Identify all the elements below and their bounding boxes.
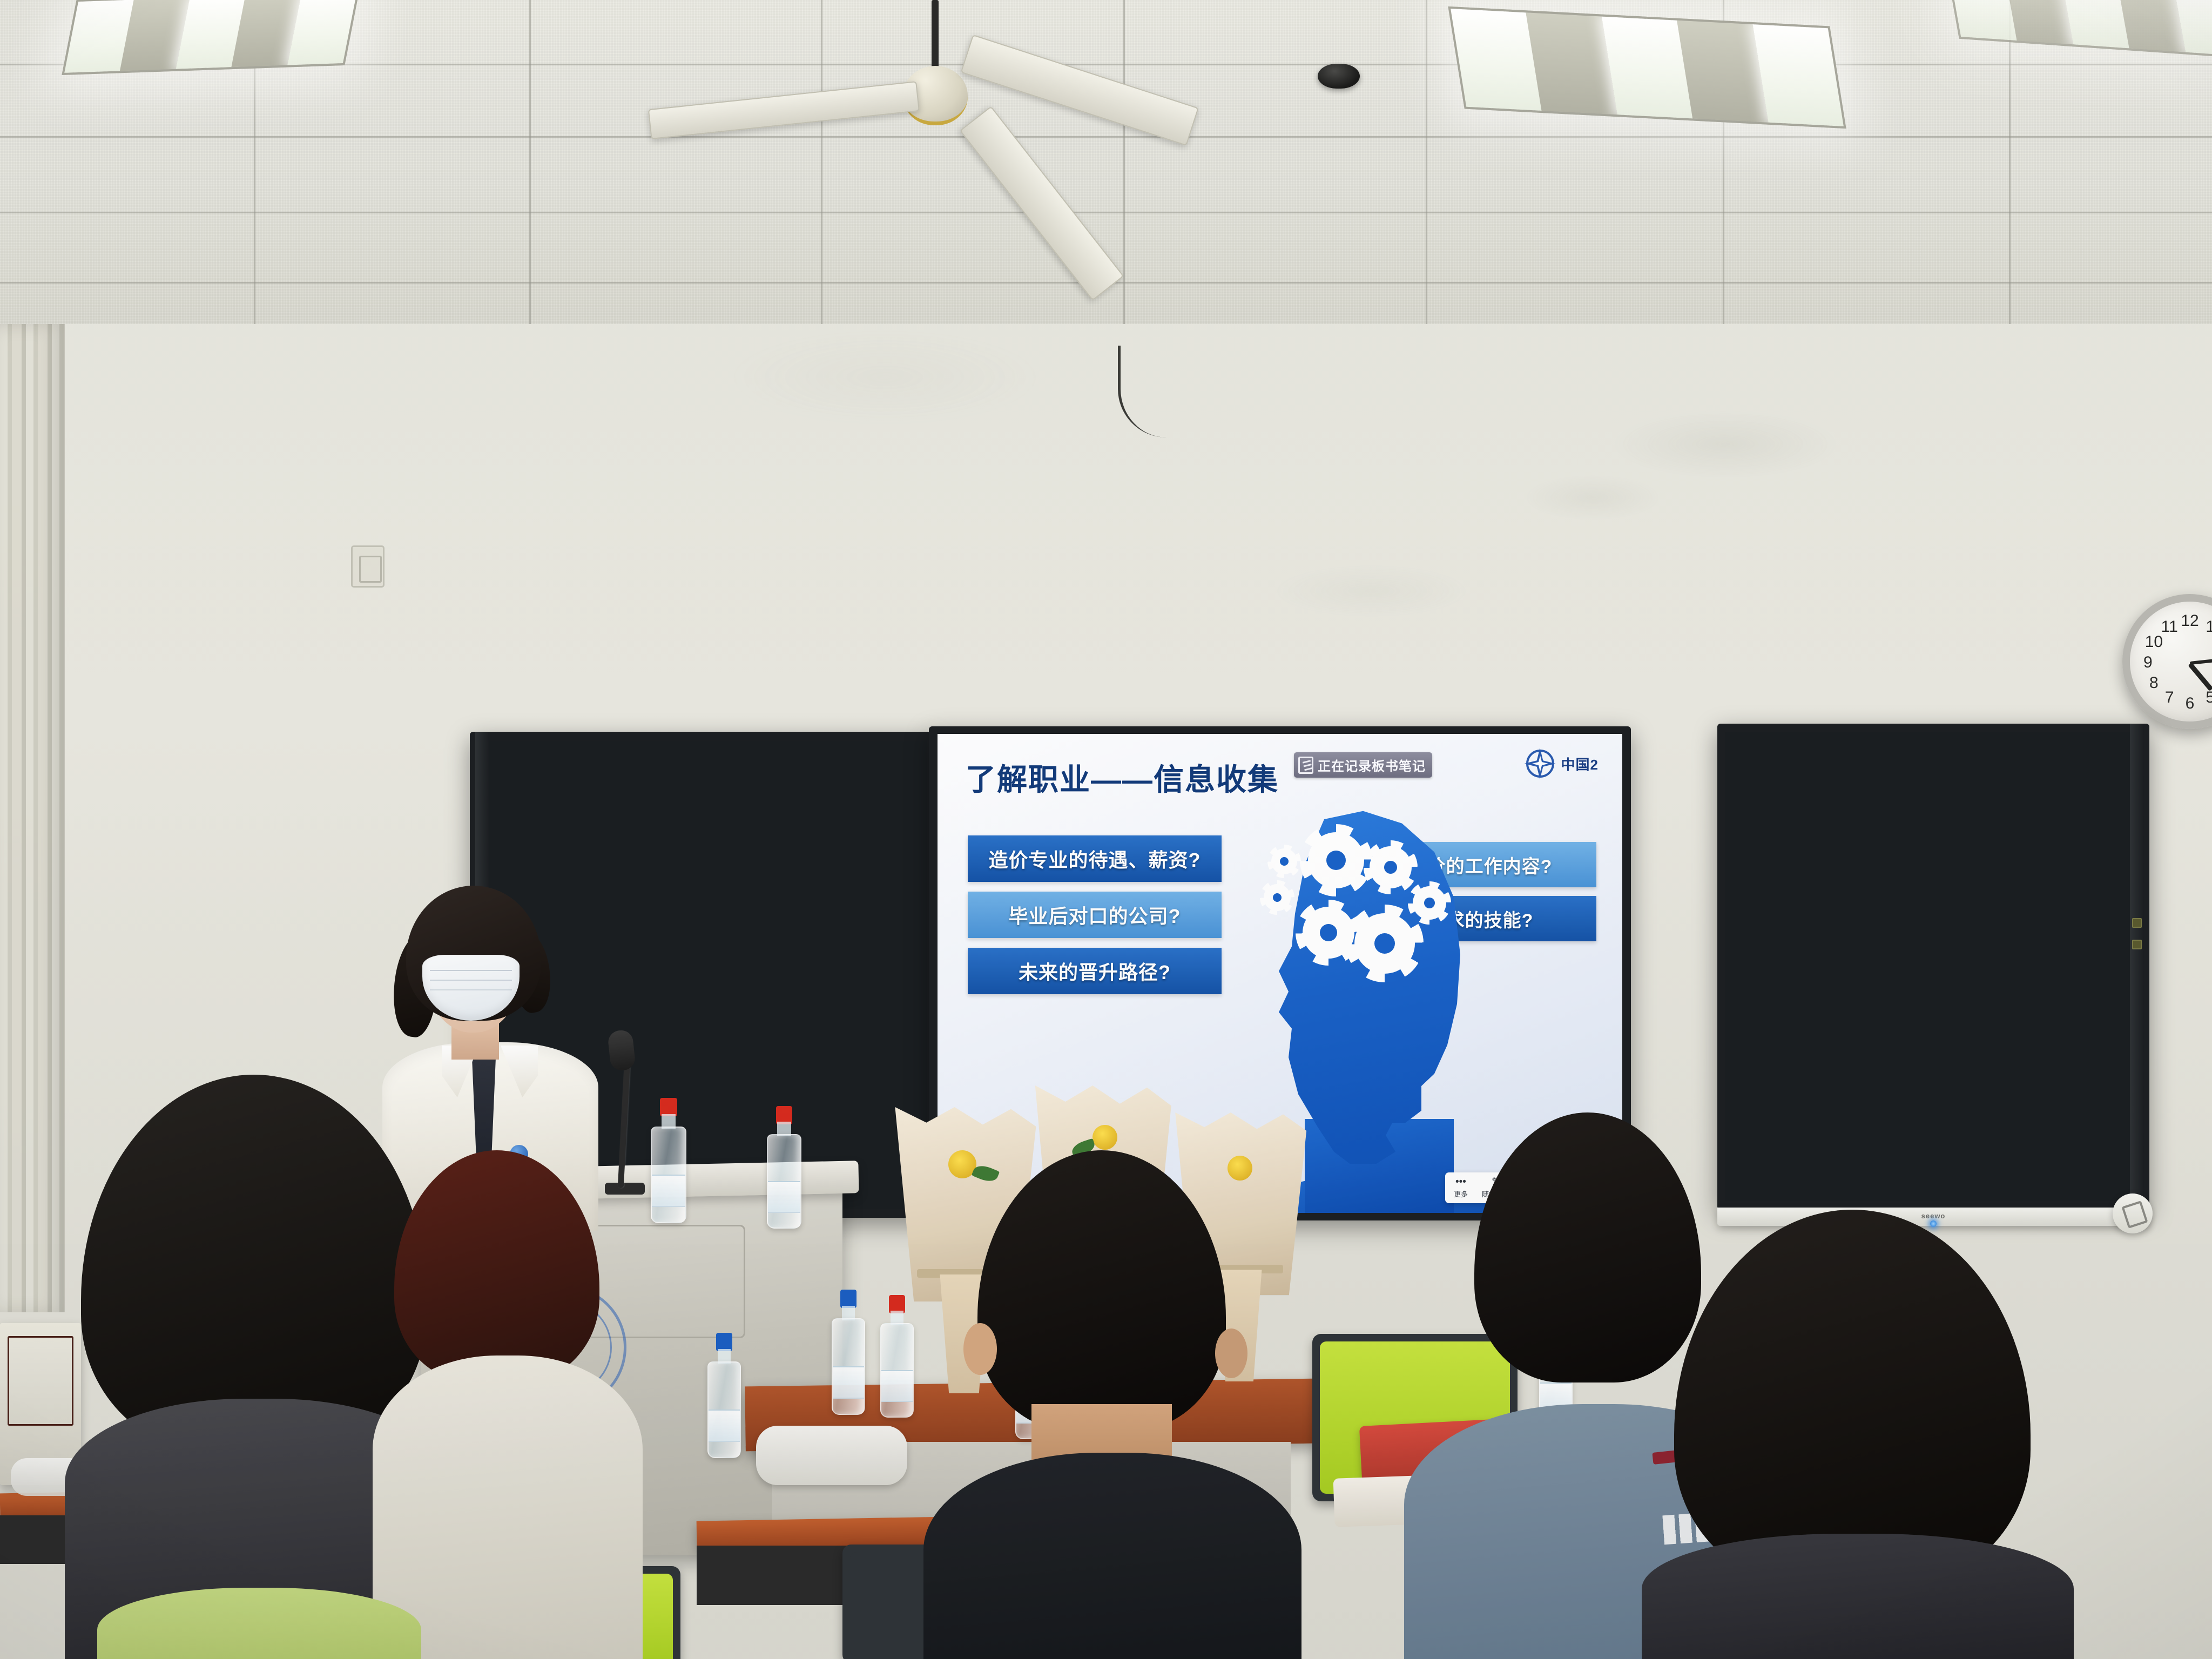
water-bottle [651,1099,686,1223]
stylus-holder[interactable] [2113,1193,2153,1233]
clock-minute-hand [2190,656,2212,665]
brand-logo: 中国2 [1525,748,1599,779]
clock-number: 6 [2186,694,2195,713]
student-body [97,1588,421,1659]
water-bottle [707,1334,741,1458]
brand-logo-label: 中国2 [1561,754,1599,774]
student-back-of-head [97,1555,400,1659]
student-hair [1674,1210,2031,1588]
panel-indicator-icon [2132,918,2142,928]
student-back-of-head [373,1150,632,1659]
gear-icon [1264,884,1291,911]
classroom-photo: 12 1 2 3 4 5 6 7 8 9 10 11 seewo [0,0,2212,1659]
question-box-left-1: 造价专业的待遇、薪资? [968,835,1222,882]
clock-number: 7 [2165,689,2174,707]
clock-number: 1 [2206,618,2212,636]
wall-socket [351,545,385,588]
ceiling-light-right [1448,6,1846,129]
water-bottle [880,1296,914,1418]
ceiling-light-left [62,0,359,75]
question-box-left-3: 未来的晋升路径? [968,948,1222,994]
panel-indicator-icon [2132,940,2142,949]
wrapped-item [756,1426,907,1485]
student-body [1642,1534,2074,1659]
gear-icon [1308,832,1364,888]
clock-number: 11 [2161,618,2178,636]
student-body [373,1355,643,1659]
blackboard-panel-right[interactable]: seewo [1717,724,2149,1210]
clock-number: 10 [2145,633,2163,651]
clock-number: 5 [2206,689,2212,707]
gear-icon [1271,848,1297,874]
question-box-left-2: 毕业后对口的公司? [968,892,1222,938]
clock-number: 12 [2181,612,2198,630]
fan-drop-rod [932,0,939,69]
clock-hour-hand [2188,663,2212,691]
student-hair [394,1150,599,1382]
water-bottle [832,1291,865,1415]
gear-icon [1370,846,1412,888]
window-curtain [0,324,65,1312]
student-body [923,1453,1301,1659]
note-pen-icon [1298,757,1313,774]
four-point-star-icon [1525,748,1556,779]
gear-icon [1354,913,1415,974]
water-bottle [767,1107,801,1229]
clock-number: 8 [2149,674,2159,692]
gear-icon [1413,886,1446,920]
wall-cable [1118,346,1215,437]
student-back-of-head [940,1150,1274,1659]
slide-title: 了解职业——信息收集 [966,756,1279,799]
recording-status-label: 正在记录板书笔记 [1318,756,1426,774]
student-back-of-head [1642,1210,2052,1659]
recording-status-badge: 正在记录板书笔记 [1294,752,1432,778]
clock-number: 9 [2143,653,2153,672]
smoke-detector [1318,64,1360,89]
student-hair [977,1150,1226,1431]
